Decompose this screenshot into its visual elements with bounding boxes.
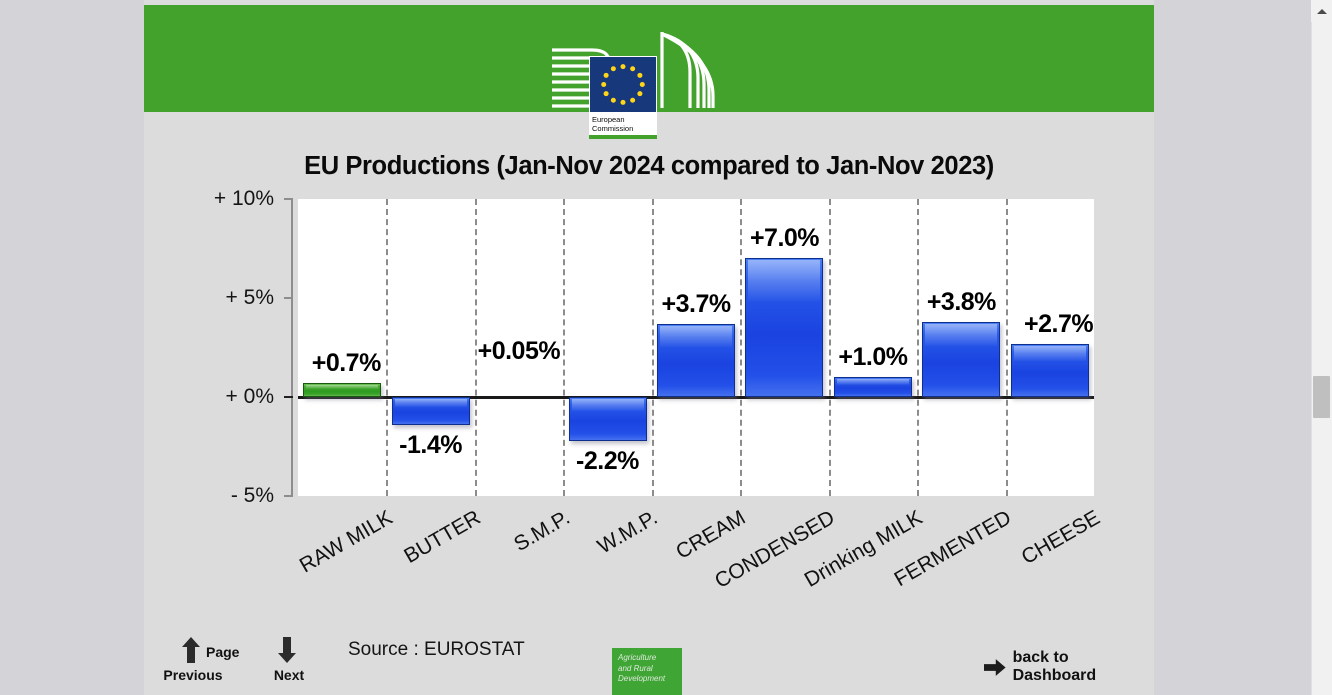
source-text: Source : EUROSTAT — [348, 639, 525, 661]
bar-value-label: +7.0% — [750, 224, 819, 253]
arrow-down-icon — [278, 637, 296, 663]
scroll-up-button[interactable] — [1311, 0, 1332, 22]
arrow-up-icon — [182, 637, 200, 663]
bar-value-label: +3.7% — [662, 290, 731, 319]
bar-value-label: +0.7% — [312, 349, 381, 378]
y-tick-label: + 0% — [226, 385, 274, 409]
bar-gloss — [1014, 346, 1086, 361]
bar-value-label: +0.05% — [478, 337, 561, 366]
x-category-label: CHEESE — [1018, 506, 1105, 570]
plot-area: +0.7%-1.4%+0.05%-2.2%+3.7%+7.0%+1.0%+3.8… — [298, 199, 1094, 496]
y-tick-mark — [284, 297, 293, 299]
bar — [834, 377, 912, 397]
agriculture-rural-development-badge: Agriculture and Rural Development — [612, 648, 682, 695]
y-axis-line — [291, 199, 293, 496]
category-separator — [829, 199, 831, 496]
bar — [922, 322, 1000, 397]
bar-gloss — [395, 399, 467, 407]
previous-label: Previous — [158, 667, 228, 683]
vertical-scrollbar[interactable] — [1311, 0, 1332, 695]
logo-caption: European Commission — [589, 113, 657, 139]
logo-caption-line1: European — [592, 115, 657, 124]
y-tick-label: + 10% — [214, 187, 274, 211]
bar-chart: + 10%+ 5%+ 0%- 5% +0.7%-1.4%+0.05%-2.2%+… — [144, 190, 1154, 500]
y-tick-mark — [284, 495, 293, 497]
category-separator — [386, 199, 388, 496]
bar — [1011, 344, 1089, 397]
bar-value-label: +1.0% — [838, 343, 907, 372]
y-tick-mark — [284, 198, 293, 200]
x-category-label: BUTTER — [400, 506, 485, 569]
slide-viewer: European Commission EU Productions (Jan-… — [0, 0, 1332, 695]
bar-value-label: -2.2% — [576, 447, 639, 476]
next-page-button[interactable]: Next — [254, 637, 324, 689]
bar — [392, 397, 470, 425]
y-tick-label: + 5% — [226, 286, 274, 310]
eu-flag-icon — [589, 56, 657, 113]
agri-badge-line3: Development — [618, 674, 682, 685]
page-label: Page — [206, 644, 239, 660]
european-commission-logo: European Commission — [552, 32, 717, 137]
category-separator — [740, 199, 742, 496]
logo-caption-line2: Commission — [592, 124, 657, 133]
y-tick-mark — [284, 396, 293, 398]
bar-gloss — [837, 379, 909, 384]
agri-badge-line2: and Rural — [618, 664, 682, 675]
bar-gloss — [306, 385, 378, 389]
slide-footer: Previous Page Next Source : EUROSTAT Agr… — [144, 615, 1154, 695]
logo-flourish-right-icon — [660, 32, 715, 112]
bar — [657, 324, 735, 397]
next-label: Next — [254, 667, 324, 683]
category-separator — [1006, 199, 1008, 496]
bar — [303, 383, 381, 397]
bar-value-label: +2.7% — [1024, 310, 1093, 339]
bar — [745, 258, 823, 397]
bar-value-label: -1.4% — [399, 431, 462, 460]
bar-gloss — [572, 399, 644, 411]
x-category-label: W.M.P. — [594, 506, 662, 559]
category-separator — [563, 199, 565, 496]
category-separator — [917, 199, 919, 496]
scrollbar-thumb[interactable] — [1313, 376, 1330, 418]
agri-badge-line1: Agriculture — [618, 653, 682, 664]
bar-value-label: +3.8% — [927, 288, 996, 317]
back-to-dashboard-label: back to Dashboard — [1013, 649, 1154, 685]
bar-gloss — [660, 326, 732, 347]
category-separator — [475, 199, 477, 496]
slide-page: European Commission EU Productions (Jan-… — [144, 0, 1154, 695]
bar — [569, 397, 647, 441]
x-axis-category-labels: RAW MILKBUTTERS.M.P.W.M.P.CREAMCONDENSED… — [144, 498, 1154, 608]
category-separator — [652, 199, 654, 496]
x-category-label: RAW MILK — [295, 506, 396, 578]
bar-gloss — [925, 324, 997, 346]
back-to-dashboard-button[interactable]: back to Dashboard — [984, 649, 1154, 685]
y-axis-tick-labels: + 10%+ 5%+ 0%- 5% — [144, 190, 290, 500]
bar-gloss — [748, 260, 820, 301]
arrow-right-icon — [984, 659, 1006, 676]
x-category-label: S.M.P. — [510, 506, 574, 557]
chart-title: EU Productions (Jan-Nov 2024 compared to… — [144, 152, 1154, 181]
